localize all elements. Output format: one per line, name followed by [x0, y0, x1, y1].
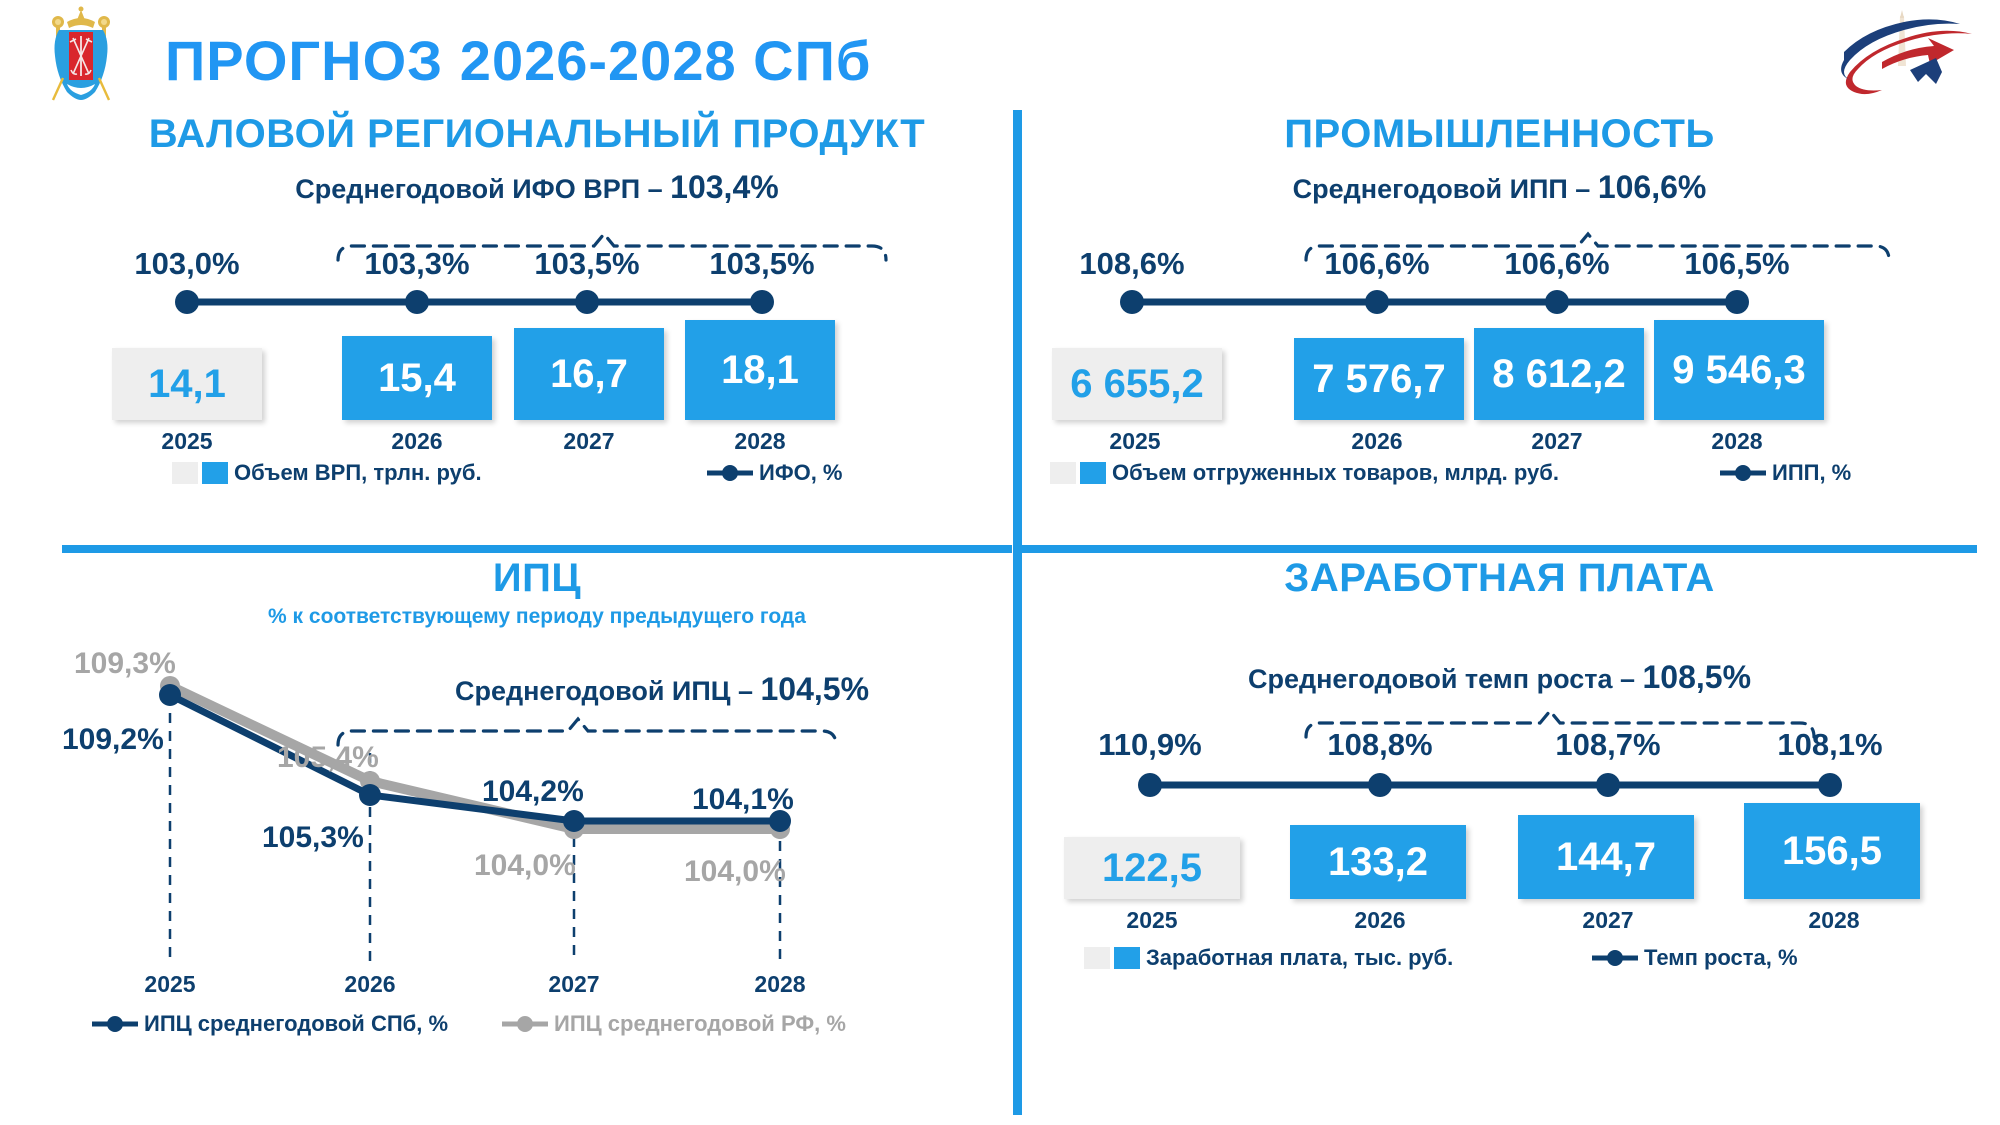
grp-average-value: 103,4%	[670, 169, 779, 205]
wage-year-2025: 2025	[1126, 907, 1177, 934]
grp-bar-value-2025: 14,1	[148, 364, 226, 404]
panel-industry: ПРОМЫШЛЕННОСТЬ Среднегодовой ИПП – 106,6…	[1022, 112, 1977, 542]
cpi-rf-label-2028: 104,0%	[684, 855, 786, 889]
grp-percent-2026: 103,3%	[364, 246, 469, 282]
cpi-spb-label-2025: 109,2%	[62, 723, 164, 757]
industry-legend-bars-label: Объем отгруженных товаров, млрд. руб.	[1112, 460, 1559, 486]
cpi-rf-label-2026: 105,4%	[277, 741, 379, 775]
wage-bar-2027: 144,7	[1518, 815, 1694, 899]
wage-bar-value-2025: 122,5	[1102, 848, 1202, 888]
spb-coat-of-arms-icon	[45, 6, 117, 102]
industry-percent-2025: 108,6%	[1079, 246, 1184, 282]
wage-year-2026: 2026	[1354, 907, 1405, 934]
grp-legend-line-label: ИФО, %	[759, 460, 843, 486]
panel-subtitle-cpi: % к соответствующему периоду предыдущего…	[62, 605, 1012, 629]
industry-year-2026: 2026	[1351, 428, 1402, 455]
wage-bar-value-2026: 133,2	[1328, 842, 1428, 882]
wage-legend-swatch-blue	[1114, 947, 1140, 969]
industry-percent-2026: 106,6%	[1324, 246, 1429, 282]
panel-wages: ЗАРАБОТНАЯ ПЛАТА Среднегодовой темп рост…	[1022, 556, 1977, 1116]
grp-legend-line: ИФО, %	[707, 460, 843, 486]
cpi-spb-label-2027: 104,2%	[482, 775, 584, 809]
grp-percent-2025: 103,0%	[134, 246, 239, 282]
grp-bar-value-2028: 18,1	[721, 350, 799, 390]
wage-growth-line-series	[1022, 767, 1977, 803]
panel-title-industry: ПРОМЫШЛЕННОСТЬ	[1022, 112, 1977, 157]
wage-legend-line-icon	[1592, 948, 1638, 968]
wage-bar-2025: 122,5	[1064, 837, 1240, 899]
industry-percent-2028: 106,5%	[1684, 246, 1789, 282]
cpi-rf-label-2027: 104,0%	[474, 849, 576, 883]
grp-ifo-line-series	[62, 284, 1012, 320]
grp-bar-2026: 15,4	[342, 336, 492, 420]
grp-year-2026: 2026	[391, 428, 442, 455]
industry-ipp-line-series	[1022, 284, 1977, 320]
panel-gross-regional-product: ВАЛОВОЙ РЕГИОНАЛЬНЫЙ ПРОДУКТ Среднегодов…	[62, 112, 1012, 542]
industry-bar-value-2027: 8 612,2	[1492, 354, 1625, 394]
wage-bar-2028: 156,5	[1744, 803, 1920, 899]
wage-percent-2027: 108,7%	[1555, 727, 1660, 763]
grp-bar-value-2027: 16,7	[550, 354, 628, 394]
wage-legend-swatch-grey	[1084, 947, 1110, 969]
grp-bar-2025: 14,1	[112, 348, 262, 420]
page-header: ПРОГНОЗ 2026-2028 СПб	[0, 0, 2000, 105]
wage-average-prefix: Среднегодовой темп роста –	[1248, 664, 1643, 694]
grp-year-2028: 2028	[734, 428, 785, 455]
wage-year-2027: 2027	[1582, 907, 1633, 934]
cpi-rf-label-2025: 109,3%	[74, 647, 176, 681]
wage-legend-bars-label: Заработная плата, тыс. руб.	[1146, 945, 1453, 971]
cpi-legend-spb: ИПЦ среднегодовой СПб, %	[92, 1011, 448, 1037]
grp-legend-bars: Объем ВРП, трлн. руб.	[172, 460, 482, 486]
grp-year-2027: 2027	[563, 428, 614, 455]
industry-average-prefix: Среднегодовой ИПП –	[1293, 174, 1598, 204]
industry-bar-value-2028: 9 546,3	[1672, 350, 1805, 390]
cpi-year-2027: 2027	[548, 971, 599, 998]
industry-legend-swatch-blue	[1080, 462, 1106, 484]
industry-legend-bars: Объем отгруженных товаров, млрд. руб.	[1050, 460, 1559, 486]
horizontal-divider-left	[62, 545, 1012, 553]
grp-average-line: Среднегодовой ИФО ВРП – 103,4%	[62, 169, 1012, 206]
vertical-divider	[1013, 110, 1022, 1115]
panel-title-wage: ЗАРАБОТНАЯ ПЛАТА	[1022, 556, 1977, 601]
industry-year-2028: 2028	[1711, 428, 1762, 455]
panel-title-cpi: ИПЦ	[62, 556, 1012, 601]
grp-percent-2027: 103,5%	[534, 246, 639, 282]
cpi-legend-spb-label: ИПЦ среднегодовой СПб, %	[144, 1011, 448, 1037]
industry-average-value: 106,6%	[1598, 169, 1707, 205]
grp-legend-swatch-grey	[172, 462, 198, 484]
industry-legend-line: ИПП, %	[1720, 460, 1851, 486]
grp-legend-swatch-blue	[202, 462, 228, 484]
wage-bar-value-2028: 156,5	[1782, 831, 1882, 871]
industry-legend-line-icon	[1720, 463, 1766, 483]
wage-bar-2026: 133,2	[1290, 825, 1466, 899]
wage-percent-2028: 108,1%	[1777, 727, 1882, 763]
wage-average-line: Среднегодовой темп роста – 108,5%	[1022, 659, 1977, 696]
grp-average-prefix: Среднегодовой ИФО ВРП –	[295, 174, 670, 204]
industry-bar-2026: 7 576,7	[1294, 338, 1464, 420]
grp-legend-bars-label: Объем ВРП, трлн. руб.	[234, 460, 482, 486]
cpi-year-2026: 2026	[344, 971, 395, 998]
panel-title-grp: ВАЛОВОЙ РЕГИОНАЛЬНЫЙ ПРОДУКТ	[62, 112, 1012, 157]
cpi-legend-spb-line-icon	[92, 1014, 138, 1034]
industry-average-line: Среднегодовой ИПП – 106,6%	[1022, 169, 1977, 206]
wage-legend-line: Темп роста, %	[1592, 945, 1798, 971]
cpi-spb-label-2026: 105,3%	[262, 821, 364, 855]
industry-year-2025: 2025	[1109, 428, 1160, 455]
cpi-legend-rf-line-icon	[502, 1014, 548, 1034]
grp-bar-2028: 18,1	[685, 320, 835, 420]
wage-percent-2026: 108,8%	[1327, 727, 1432, 763]
industry-year-2027: 2027	[1531, 428, 1582, 455]
grp-legend-line-icon	[707, 463, 753, 483]
wage-legend-bars: Заработная плата, тыс. руб.	[1084, 945, 1453, 971]
cpi-year-2025: 2025	[144, 971, 195, 998]
industry-bar-2028: 9 546,3	[1654, 320, 1824, 420]
wage-average-value: 108,5%	[1643, 659, 1752, 695]
industry-bar-value-2025: 6 655,2	[1070, 364, 1203, 404]
cpi-year-2028: 2028	[754, 971, 805, 998]
panel-consumer-price-index: ИПЦ % к соответствующему периоду предыду…	[62, 556, 1012, 1116]
industry-legend-line-label: ИПП, %	[1772, 460, 1851, 486]
industry-bar-2027: 8 612,2	[1474, 328, 1644, 420]
cpi-legend-rf-label: ИПЦ среднегодовой РФ, %	[554, 1011, 846, 1037]
cpi-spb-label-2028: 104,1%	[692, 783, 794, 817]
wage-year-2028: 2028	[1808, 907, 1859, 934]
grp-bar-2027: 16,7	[514, 328, 664, 420]
grp-year-2025: 2025	[161, 428, 212, 455]
industry-percent-2027: 106,6%	[1504, 246, 1609, 282]
horizontal-divider-right	[1022, 545, 1977, 553]
wage-percent-2025: 110,9%	[1098, 727, 1201, 763]
grp-bar-value-2026: 15,4	[378, 358, 456, 398]
wage-legend-line-label: Темп роста, %	[1644, 945, 1798, 971]
spb-economy-swoosh-logo-icon	[1822, 8, 1982, 98]
wage-bar-value-2027: 144,7	[1556, 837, 1656, 877]
industry-legend-swatch-grey	[1050, 462, 1076, 484]
page-title: ПРОГНОЗ 2026-2028 СПб	[165, 28, 871, 93]
grp-percent-2028: 103,5%	[709, 246, 814, 282]
cpi-legend-rf: ИПЦ среднегодовой РФ, %	[502, 1011, 846, 1037]
industry-bar-value-2026: 7 576,7	[1312, 359, 1445, 399]
industry-bar-2025: 6 655,2	[1052, 348, 1222, 420]
